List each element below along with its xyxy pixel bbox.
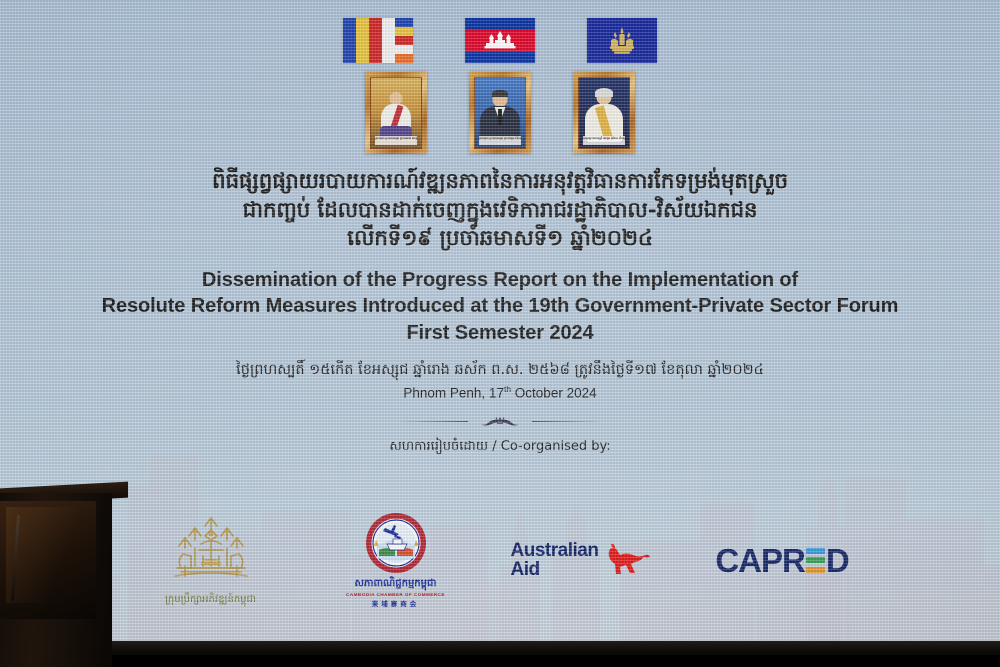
cambodia-national-flag: [465, 18, 535, 63]
svg-text:CAMBODIA: CAMBODIA: [386, 516, 406, 520]
english-date: Phnom Penh, 17th October 2024: [0, 384, 1000, 401]
australian-aid-wordmark: Australian Aid: [511, 541, 599, 579]
khmer-title-line-2: ជាកញ្ចប់ ដែលបានដាក់ចេញក្នុងវេទិការាជរដ្ឋ…: [0, 197, 1000, 226]
buddhist-flag: [343, 18, 413, 63]
khmer-date: ថ្ងៃព្រហស្បតិ៍ ១៥កើត ខែអស្សុជ ឆ្នាំរោង ឆ…: [0, 361, 1000, 380]
cdc-caption: ក្រុមប្រឹក្សាអភិវឌ្ឍន៍កម្ពុជា: [165, 592, 256, 607]
capred-bar-green: [806, 557, 825, 563]
english-title-line-1: Dissemination of the Progress Report on …: [0, 267, 1000, 294]
capred-wordmark-before: CAPR: [715, 544, 805, 577]
kangaroo-icon: [604, 543, 650, 577]
english-title-line-2: Resolute Reform Measures Introduced at t…: [0, 293, 1000, 320]
led-screen-backdrop: ព្រះករុណា ព្រះបាទសម្តេច ព្រះបរមនាថ នរោត្…: [0, 0, 1000, 645]
ccc-english-name: CAMBODIA CHAMBER OF COMMERCE: [346, 592, 445, 597]
cdc-emblem-icon: [155, 514, 267, 590]
khmer-title-line-3: លើកទី១៩ ប្រចាំឆមាសទី១ ឆ្នាំ២០២៤: [0, 225, 1000, 254]
english-title-line-3: First Semester 2024: [0, 320, 1000, 347]
flourish-icon: [472, 415, 528, 429]
capred-logo: CAPR D: [700, 544, 865, 577]
cambodia-chamber-of-commerce-logo: CAMBODIA CHAMBER សភាពាណិជ្ជកម្មកម្ពុជា C…: [330, 512, 462, 608]
capred-bar-blue: [806, 548, 825, 554]
ccc-emblem-icon: CAMBODIA CHAMBER: [365, 512, 427, 574]
svg-text:CHAMBER: CHAMBER: [387, 568, 405, 572]
ccc-khmer-name: សភាពាណិជ្ជកម្មកម្ពុជា: [354, 576, 436, 591]
royal-standard-flag: [587, 18, 657, 63]
portrait-king: ព្រះករុណា ព្រះបាទសម្តេច ព្រះបរមនាថ នរោត្…: [365, 72, 427, 154]
capred-wordmark-after: D: [826, 544, 849, 577]
stage-floor: [0, 655, 1000, 667]
divider-rule-left: [398, 421, 468, 422]
content-block: ពិធីផ្សព្វផ្សាយរបាយការណ៍វឌ្ឍនភាពនៃការអនុ…: [0, 168, 1000, 457]
screenshot-stage: ព្រះករុណា ព្រះបាទសម្តេច ព្រះបរមនាថ នរោត្…: [0, 0, 1000, 667]
australian-aid-line-1: Australian: [511, 541, 599, 560]
ornament-divider: [0, 415, 1000, 429]
english-date-prefix: Phnom Penh, 17: [403, 386, 504, 401]
emblem-row: ព្រះករុណា ព្រះបាទសម្តេច ព្រះបរមនាថ នរោត្…: [0, 18, 1000, 154]
khmer-title: ពិធីផ្សព្វផ្សាយរបាយការណ៍វឌ្ឍនភាពនៃការអនុ…: [0, 168, 1000, 254]
portrait-queen-mother: សម្តេចព្រះមហាក្សត្រី នរោត្តម មុនិនាថ សីហ…: [573, 72, 635, 154]
english-date-ordinal: th: [504, 384, 511, 394]
cdc-logo: ក្រុមប្រឹក្សាអភិវឌ្ឍន៍កម្ពុជា: [136, 514, 286, 607]
australian-aid-logo: Australian Aid: [506, 541, 656, 579]
portrait-caption: សម្តេចព្រះមហាក្សត្រី នរោត្តម មុនិនាថ សីហ…: [583, 136, 625, 145]
capred-e-bars-icon: [806, 548, 825, 573]
english-title: Dissemination of the Progress Report on …: [0, 267, 1000, 347]
logos-row: ក្រុមប្រឹក្សាអភិវឌ្ឍន៍កម្ពុជា: [0, 505, 1000, 615]
royal-emblem-icon: [605, 25, 639, 57]
angkor-wat-icon: [483, 31, 517, 49]
divider-rule-right: [532, 421, 602, 422]
ccc-chinese-name: 柬埔寨商会: [372, 598, 420, 608]
australian-aid-line-2: Aid: [511, 560, 599, 579]
co-organised-label: សហការរៀបចំដោយ / Co-organised by:: [0, 438, 1000, 457]
portrait-king-father: ព្រះករុណា ព្រះបាទសម្តេច ព្រះនរោត្តម សីហន…: [469, 72, 531, 154]
podium-silhouette: [0, 455, 128, 667]
portrait-caption: ព្រះករុណា ព្រះបាទសម្តេច ព្រះនរោត្តម សីហន…: [479, 136, 521, 145]
english-date-suffix: October 2024: [511, 386, 597, 401]
khmer-title-line-1: ពិធីផ្សព្វផ្សាយរបាយការណ៍វឌ្ឍនភាពនៃការអនុ…: [0, 168, 1000, 197]
capred-bar-orange: [806, 567, 825, 573]
flags-row: [0, 18, 1000, 63]
portrait-caption: ព្រះករុណា ព្រះបាទសម្តេច ព្រះបរមនាថ នរោត្…: [375, 136, 417, 145]
portraits-row: ព្រះករុណា ព្រះបាទសម្តេច ព្រះបរមនាថ នរោត្…: [0, 72, 1000, 154]
